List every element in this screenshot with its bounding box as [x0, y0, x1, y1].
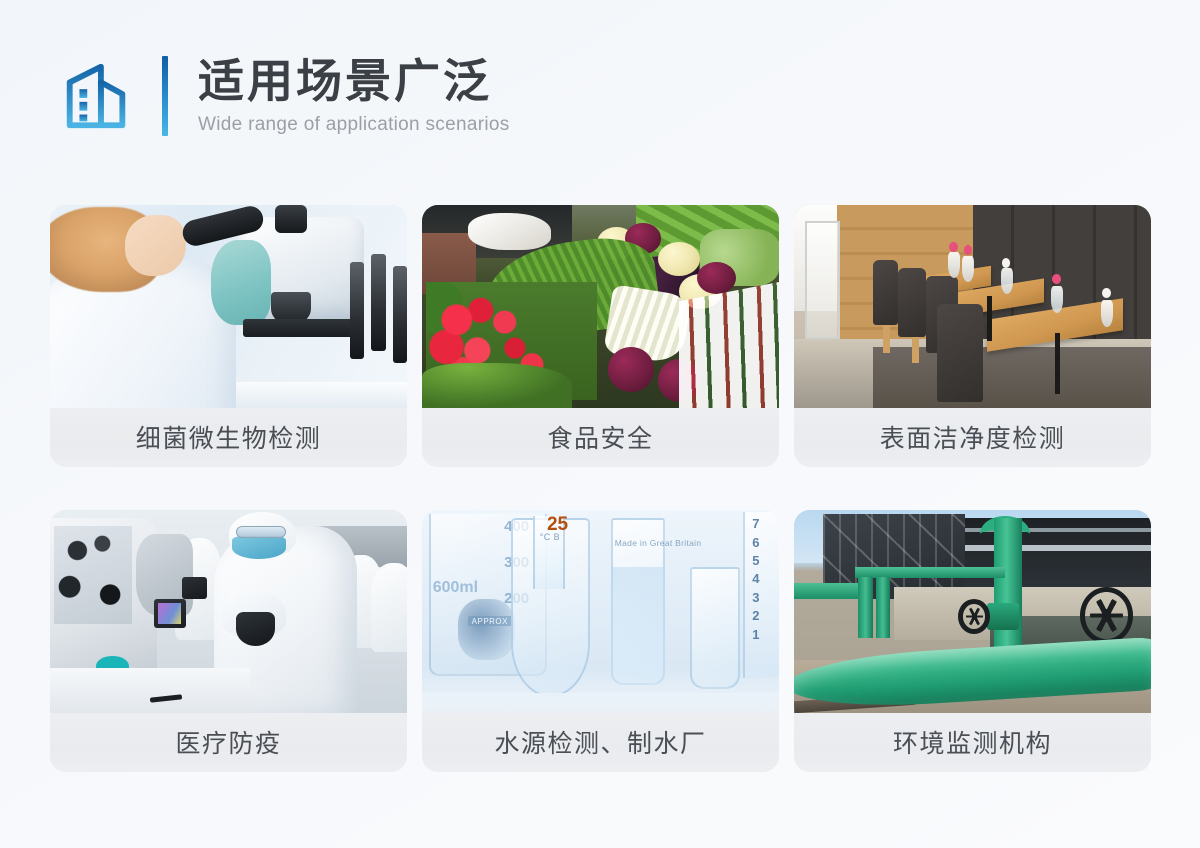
pipe-flange [987, 603, 1019, 629]
black-face-mask [236, 612, 275, 647]
scene-green-industrial-pipes [794, 510, 1151, 713]
scenario-card-water-source-detection[interactable]: 400 300 200 600ml APPROX 25 °C B Made in… [422, 510, 779, 772]
work-bench [50, 668, 250, 713]
scene-restaurant-interior [794, 205, 1151, 408]
produce-crate [679, 282, 779, 408]
test-tube-b [690, 567, 740, 689]
card-photo-laboratory-microscope [50, 205, 407, 408]
beaker-volume-label: 600ml [433, 579, 478, 597]
page-header: 适用场景广泛 Wide range of application scenari… [58, 48, 510, 144]
page-subtitle: Wide range of application scenarios [198, 115, 510, 136]
microscope-stage [243, 319, 364, 337]
pipe-support-leg-2 [876, 577, 890, 638]
metal-shelf [805, 221, 841, 339]
onion-2 [658, 242, 701, 277]
beaker-shadow [458, 599, 515, 660]
chair-leg-1 [883, 321, 890, 353]
table-leg-1 [987, 296, 993, 341]
table-leg-2 [1055, 333, 1061, 394]
pipe-support-leg-1 [858, 577, 872, 638]
flower-vase-5 [1101, 300, 1113, 326]
made-in-label: Made in Great Britain [615, 538, 702, 548]
machine-components [54, 526, 133, 623]
card-caption: 水源检测、制水厂 [422, 713, 779, 772]
blue-face-mask [232, 536, 286, 558]
flower-5 [1102, 288, 1111, 298]
header-text-block: 适用场景广泛 Wide range of application scenari… [198, 56, 510, 135]
pipette-3 [393, 266, 407, 363]
microscope-camera-port [275, 205, 307, 233]
header-divider [162, 56, 168, 136]
scenario-card-surface-cleanliness-detection[interactable]: 表面洁净度检测 [794, 205, 1151, 467]
flower-2 [964, 245, 973, 255]
scenario-card-environmental-monitoring[interactable]: 环境监测机构 [794, 510, 1151, 772]
chair-2 [898, 268, 927, 337]
page-title: 适用场景广泛 [198, 56, 510, 108]
graduated-cylinder [743, 512, 779, 678]
card-photo-vegetable-market [422, 205, 779, 408]
cylinder-tick-5: 5 [752, 553, 759, 568]
card-caption: 医疗防疫 [50, 713, 407, 772]
chair-1 [873, 260, 898, 325]
cylinder-tick-1: 1 [752, 627, 759, 642]
cylinder-tick-4: 4 [752, 571, 759, 586]
scene-cleanroom-workers [50, 510, 407, 713]
building-icon [58, 57, 136, 135]
leafy-greens [422, 363, 572, 408]
flower-vase-1 [948, 252, 960, 278]
scene-laboratory-microscope [50, 205, 407, 408]
flower-vase-2 [962, 256, 974, 282]
scientist-face [125, 215, 186, 276]
pipette-1 [350, 262, 364, 359]
flower-1 [949, 242, 958, 252]
card-photo-laboratory-glassware: 400 300 200 600ml APPROX 25 °C B Made in… [422, 510, 779, 713]
scene-laboratory-glassware: 400 300 200 600ml APPROX 25 °C B Made in… [422, 510, 779, 713]
card-caption: 细菌微生物检测 [50, 408, 407, 467]
vertical-riser-pipe [994, 518, 1023, 652]
beetroot-3 [608, 347, 654, 392]
safety-goggles [236, 526, 286, 538]
valve-handwheel-1 [958, 599, 990, 634]
card-photo-cleanroom [50, 510, 407, 713]
secondary-pipes [794, 583, 865, 599]
beetroot-2 [697, 262, 736, 294]
cylinder-tick-7: 7 [752, 516, 759, 531]
machine-display-1 [154, 599, 186, 627]
chair-4 [937, 304, 983, 401]
scenario-card-medical-epidemic-prevention[interactable]: 医疗防疫 [50, 510, 407, 772]
cylinder-tick-2: 2 [752, 608, 759, 623]
flower-vase-4 [1051, 286, 1063, 312]
scenario-card-bacteria-microbe-detection[interactable]: 细菌微生物检测 [50, 205, 407, 467]
cylinder-tick-3: 3 [752, 590, 759, 605]
cylinder-scale: 7654321 [752, 516, 759, 642]
pipette-2 [371, 254, 385, 351]
background-worker-3 [371, 563, 407, 652]
lab-table-surface [422, 693, 779, 713]
beaker-approx-label: APPROX [468, 616, 511, 626]
blue-glove [211, 240, 272, 325]
card-caption: 表面洁净度检测 [794, 408, 1151, 467]
machine-display-2 [182, 577, 207, 599]
valve-handwheel-2 [1080, 587, 1134, 644]
scenario-card-grid: 细菌微生物检测 [50, 205, 1150, 772]
test-tube-a-water [611, 567, 665, 685]
scene-fresh-vegetable-market [422, 205, 779, 408]
card-photo-industrial-pipes [794, 510, 1151, 713]
card-caption: 食品安全 [422, 408, 779, 467]
plastic-bags [468, 213, 550, 250]
card-caption: 环境监测机构 [794, 713, 1151, 772]
scenario-card-food-safety[interactable]: 食品安全 [422, 205, 779, 467]
flask-sub-label: °C B [540, 532, 560, 542]
cylinder-tick-6: 6 [752, 535, 759, 550]
card-photo-restaurant-interior [794, 205, 1151, 408]
